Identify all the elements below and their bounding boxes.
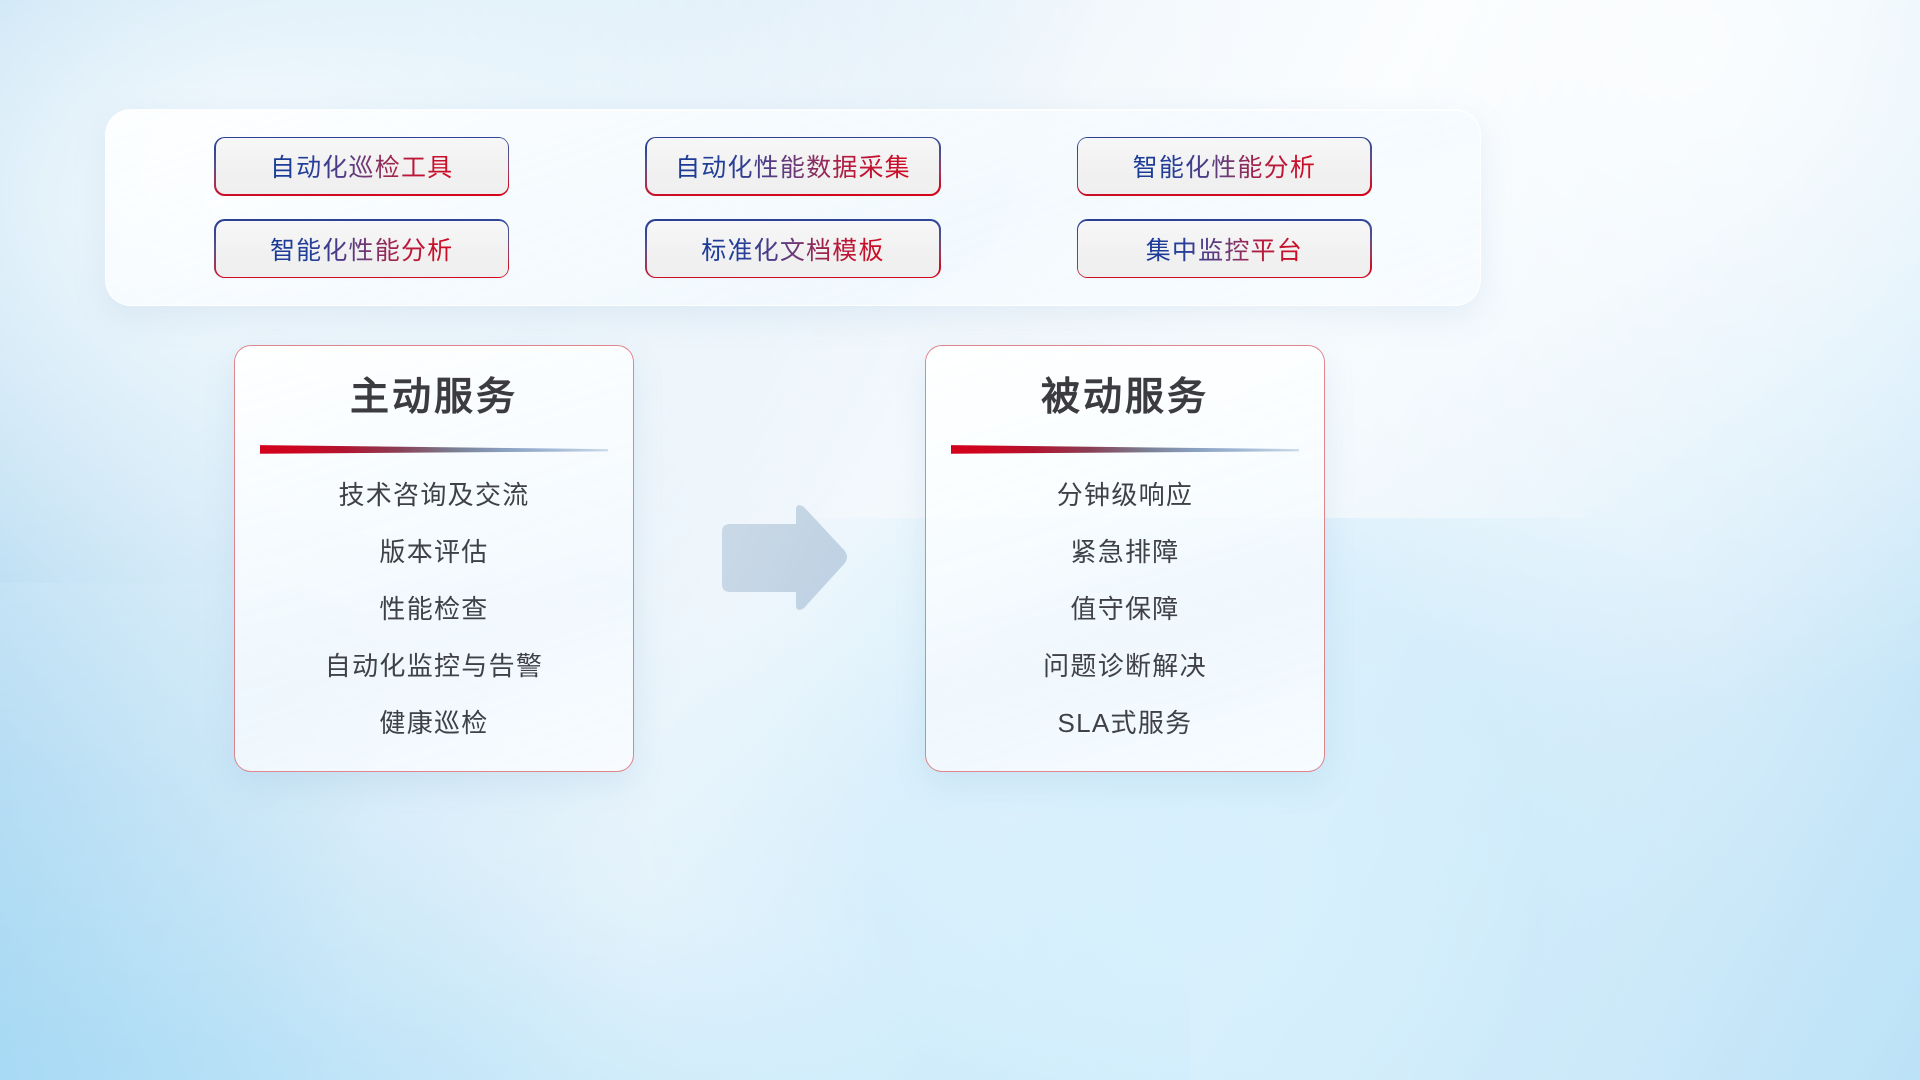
card-divider-wedge <box>951 443 1299 454</box>
list-item[interactable]: 值守保障 <box>1070 594 1179 625</box>
capability-pill-label: 集中监控平台 <box>1146 231 1303 267</box>
proactive-service-card: 主动服务 技术咨询及交流 版本评估 性能检查 自动化监控与告警 健康巡检 <box>234 345 634 772</box>
capability-pill-label: 自动化巡检工具 <box>270 148 453 184</box>
list-item[interactable]: 分钟级响应 <box>1057 480 1194 511</box>
card-title: 被动服务 <box>1041 374 1209 423</box>
reactive-service-card: 被动服务 分钟级响应 紧急排障 值守保障 问题诊断解决 SLA式服务 <box>925 345 1325 772</box>
list-item[interactable]: 技术咨询及交流 <box>338 480 529 511</box>
card-item-list: 技术咨询及交流 版本评估 性能检查 自动化监控与告警 健康巡检 <box>261 464 607 747</box>
card-item-list: 分钟级响应 紧急排障 值守保障 问题诊断解决 SLA式服务 <box>952 464 1298 747</box>
capability-panel: 自动化巡检工具 自动化性能数据采集 智能化性能分析 智能化性能分析 标准化文档模… <box>105 109 1481 306</box>
arrow-right-icon <box>718 502 850 614</box>
card-divider-wedge <box>260 443 608 454</box>
capability-pill[interactable]: 自动化性能数据采集 <box>647 138 939 194</box>
capability-pill[interactable]: 智能化性能分析 <box>216 221 508 277</box>
card-title: 主动服务 <box>350 374 518 423</box>
list-item[interactable]: 问题诊断解决 <box>1043 651 1207 682</box>
capability-pill[interactable]: 智能化性能分析 <box>1078 138 1370 194</box>
capability-pill[interactable]: 自动化巡检工具 <box>216 138 508 194</box>
capability-pill[interactable]: 集中监控平台 <box>1078 221 1370 277</box>
list-item[interactable]: SLA式服务 <box>1058 708 1193 739</box>
list-item[interactable]: 性能检查 <box>379 594 488 625</box>
list-item[interactable]: 自动化监控与告警 <box>325 651 543 682</box>
card-divider <box>951 443 1299 454</box>
capability-pill-label: 标准化文档模板 <box>701 231 884 267</box>
list-item[interactable]: 紧急排障 <box>1070 537 1179 568</box>
list-item[interactable]: 版本评估 <box>379 537 488 568</box>
capability-pill-label: 自动化性能数据采集 <box>675 148 911 184</box>
capability-pill-label: 智能化性能分析 <box>1133 148 1316 184</box>
card-divider <box>260 443 608 454</box>
list-item[interactable]: 健康巡检 <box>379 708 488 739</box>
capability-pill[interactable]: 标准化文档模板 <box>647 221 939 277</box>
capability-pill-label: 智能化性能分析 <box>270 231 453 267</box>
